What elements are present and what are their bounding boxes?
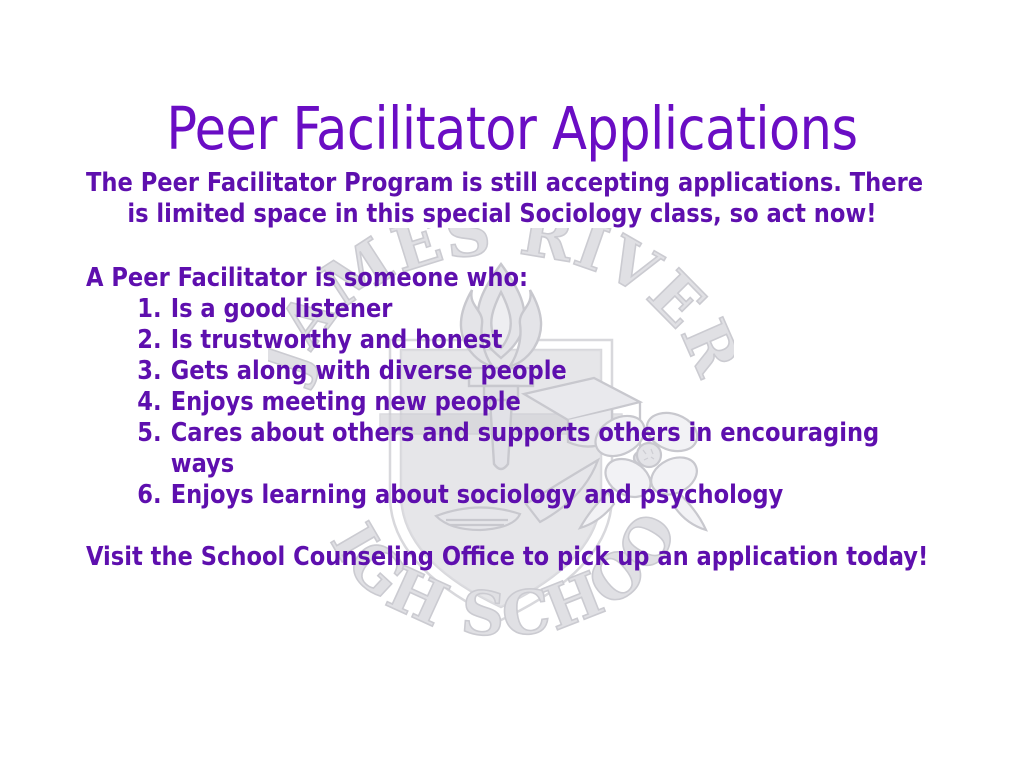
list-item-label: Enjoys learning about sociology and psyc…	[171, 480, 784, 510]
page-title: Peer Facilitator Applications	[20, 98, 1003, 160]
list-item-label: Cares about others and supports others i…	[171, 418, 880, 479]
list-item: 1. Is a good listener	[86, 294, 939, 325]
list-item: 4. Enjoys meeting new people	[86, 387, 939, 418]
intro-paragraph: The Peer Facilitator Program is still ac…	[86, 168, 939, 230]
slide-body: The Peer Facilitator Program is still ac…	[86, 168, 952, 573]
closing-paragraph: Visit the School Counseling Office to pi…	[86, 542, 939, 573]
list-item-label: Is trustworthy and honest	[171, 325, 503, 355]
spacer	[86, 230, 952, 263]
qualities-list: 1. Is a good listener 2. Is trustworthy …	[86, 294, 952, 511]
slide-content: Peer Facilitator Applications The Peer F…	[0, 0, 1024, 768]
list-item-number: 3.	[137, 356, 167, 387]
list-item-number: 1.	[137, 294, 167, 325]
list-item-label: Gets along with diverse people	[171, 356, 567, 386]
list-item-number: 4.	[137, 387, 167, 418]
list-item: 3. Gets along with diverse people	[86, 356, 939, 387]
list-item-number: 5.	[137, 418, 167, 449]
list-item-label: Enjoys meeting new people	[171, 387, 521, 417]
lead-in-text: A Peer Facilitator is someone who:	[86, 263, 939, 294]
list-item: 2. Is trustworthy and honest	[86, 325, 939, 356]
list-item-label: Is a good listener	[171, 294, 393, 324]
list-item: 5. Cares about others and supports other…	[86, 418, 939, 480]
slide-canvas: JAMES RIVER HIGH SCHOOL Peer Facilitator…	[0, 0, 1024, 768]
list-item-number: 6.	[137, 480, 167, 511]
spacer	[86, 511, 952, 542]
list-item-number: 2.	[137, 325, 167, 356]
list-item: 6. Enjoys learning about sociology and p…	[86, 480, 939, 511]
